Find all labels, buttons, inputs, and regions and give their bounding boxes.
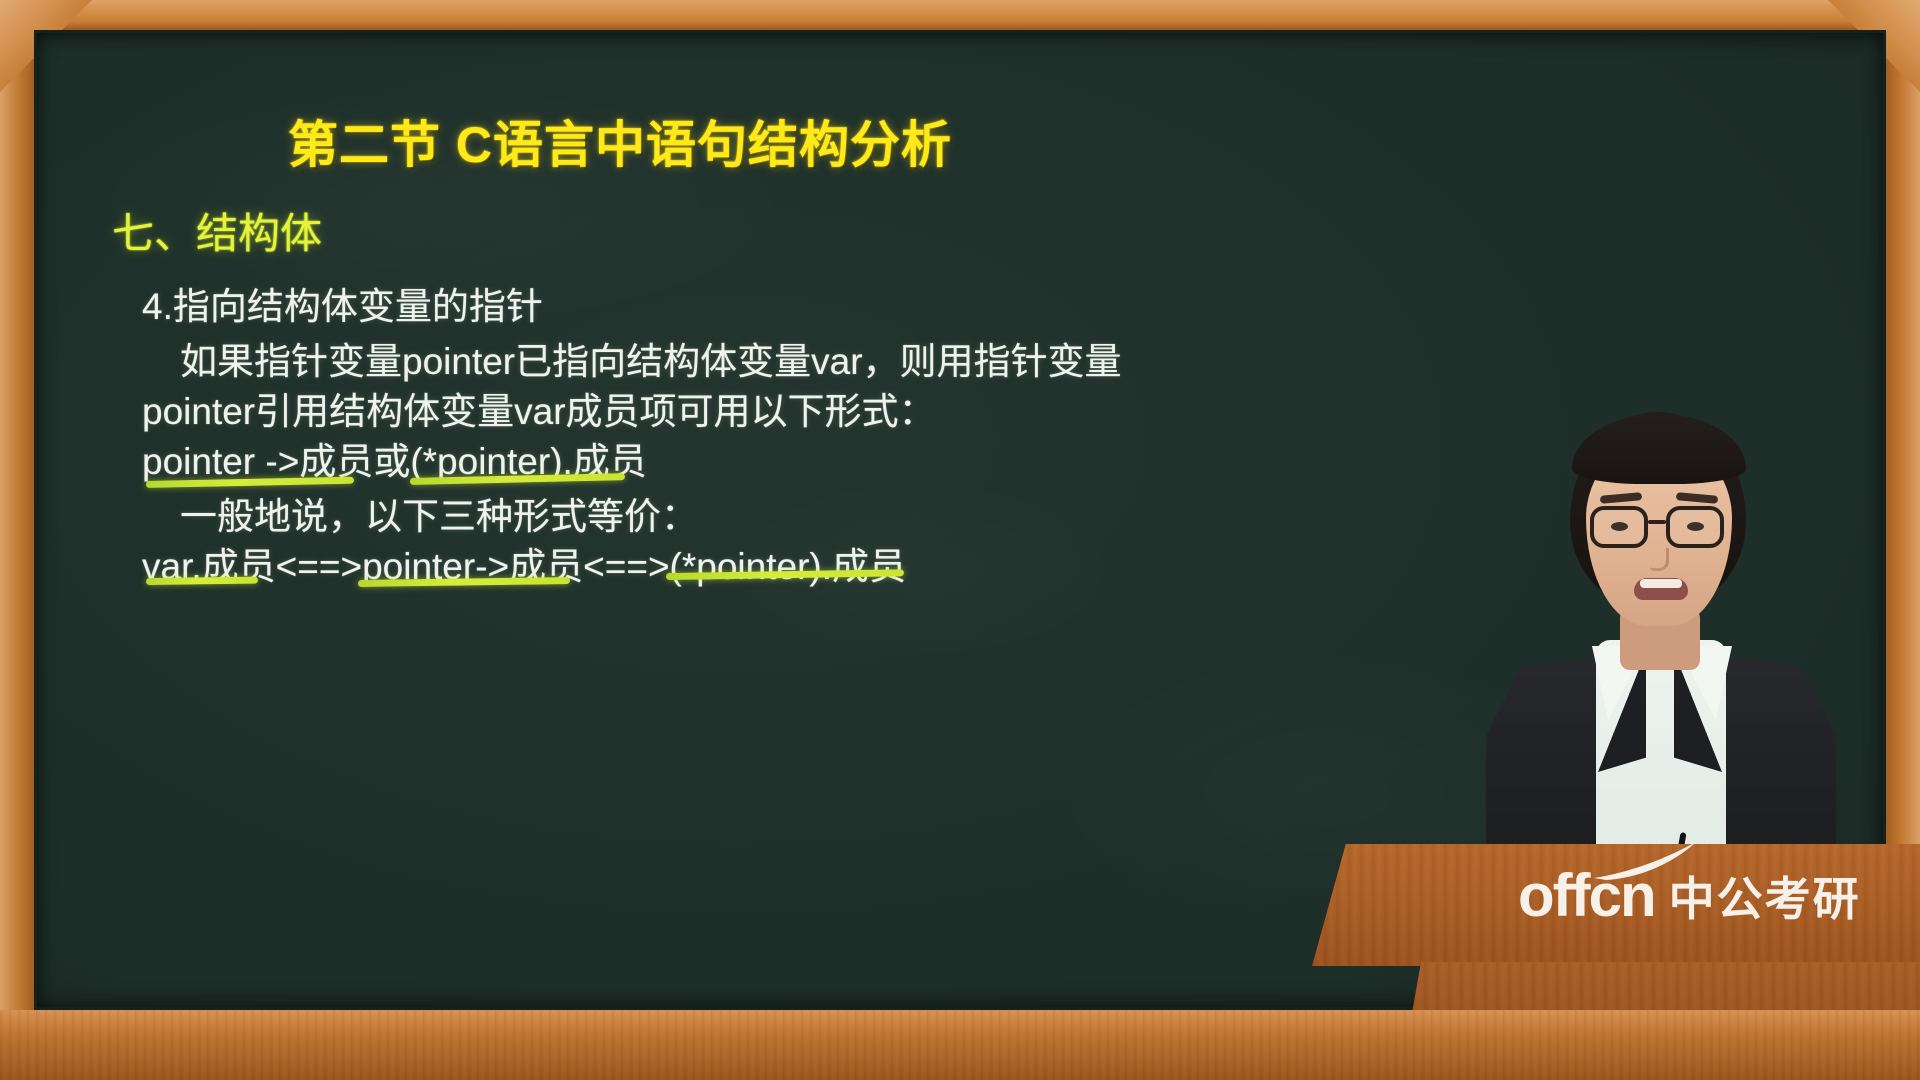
body-line-equivalence-intro: 一般地说，以下三种形式等价：: [142, 492, 1322, 542]
body-line-reference-forms: pointer引用结构体变量var成员项可用以下形式：: [142, 387, 1322, 437]
mouth: [1634, 578, 1688, 600]
hair-fringe: [1572, 414, 1746, 484]
lecture-video-frame: 第二节 C语言中语句结构分析 七、结构体 4.指向结构体变量的指针 如果指针变量…: [0, 0, 1920, 1080]
lesson-body: 4.指向结构体变量的指针 如果指针变量pointer已指向结构体变量var，则用…: [142, 282, 1322, 592]
chalk-tray: [0, 1010, 1920, 1080]
section-heading: 七、结构体: [112, 200, 322, 261]
eyeglasses-lens-left: [1590, 506, 1648, 548]
nose: [1650, 548, 1669, 571]
underline-var-dot-member: [146, 577, 258, 585]
brand-logo-text: 中公考研: [1669, 873, 1861, 926]
brand-logo-mark: offcn: [1518, 866, 1655, 926]
body-line-premise: 如果指针变量pointer已指向结构体变量var，则用指针变量: [142, 337, 1322, 387]
frame-left-bevel: [0, 0, 34, 1040]
eyeglasses-bridge: [1648, 520, 1666, 524]
brand-logo: offcn 中公考研: [1518, 866, 1861, 926]
frame-top-bevel: [0, 0, 1920, 30]
teeth: [1640, 579, 1682, 588]
body-line-equivalence-expression: var.成员<==>pointer->成员<==>(*pointer).成员: [142, 542, 1322, 592]
body-line-topic: 4.指向结构体变量的指针: [142, 282, 1322, 332]
lesson-title: 第二节 C语言中语句结构分析: [288, 105, 952, 177]
eyeglasses-lens-right: [1666, 506, 1724, 548]
